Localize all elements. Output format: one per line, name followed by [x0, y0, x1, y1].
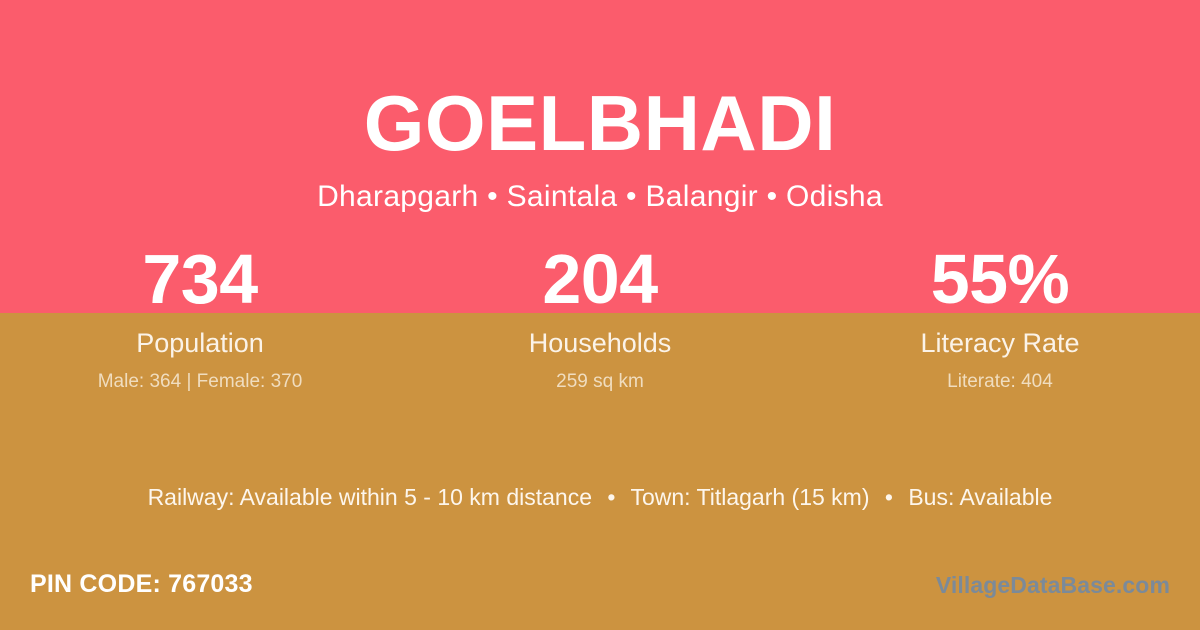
- breadcrumb: Dharapgarh • Saintala • Balangir • Odish…: [0, 162, 1200, 212]
- stat-population: 734 Population Male: 364 | Female: 370: [0, 244, 400, 391]
- village-info-card: GOELBHADI Dharapgarh • Saintala • Balang…: [0, 0, 1200, 630]
- stat-sublabel: 259 sq km: [400, 372, 800, 391]
- brand-watermark: VillageDataBase.com: [936, 574, 1170, 597]
- stat-value: 204: [400, 244, 800, 314]
- infra-separator: •: [876, 484, 902, 510]
- stat-households: 204 Households 259 sq km: [400, 244, 800, 391]
- stat-sublabel: Literate: 404: [800, 372, 1200, 391]
- stats-row: 734 Population Male: 364 | Female: 370 2…: [0, 244, 1200, 391]
- infra-railway: Railway: Available within 5 - 10 km dist…: [148, 484, 592, 510]
- stat-label: Population: [0, 330, 400, 357]
- stat-sublabel: Male: 364 | Female: 370: [0, 372, 400, 391]
- stat-label: Households: [400, 330, 800, 357]
- stat-value: 734: [0, 244, 400, 314]
- infra-town: Town: Titlagarh (15 km): [630, 484, 869, 510]
- stat-value: 55%: [800, 244, 1200, 314]
- infra-bus: Bus: Available: [908, 484, 1052, 510]
- infra-separator: •: [598, 484, 624, 510]
- stat-literacy-rate: 55% Literacy Rate Literate: 404: [800, 244, 1200, 391]
- footer: PIN CODE: 767033 VillageDataBase.com: [0, 558, 1200, 630]
- infrastructure-line: Railway: Available within 5 - 10 km dist…: [0, 486, 1200, 509]
- stat-label: Literacy Rate: [800, 330, 1200, 357]
- hero-content: GOELBHADI Dharapgarh • Saintala • Balang…: [0, 0, 1200, 212]
- page-title: GOELBHADI: [0, 0, 1200, 162]
- pin-code: PIN CODE: 767033: [30, 572, 253, 597]
